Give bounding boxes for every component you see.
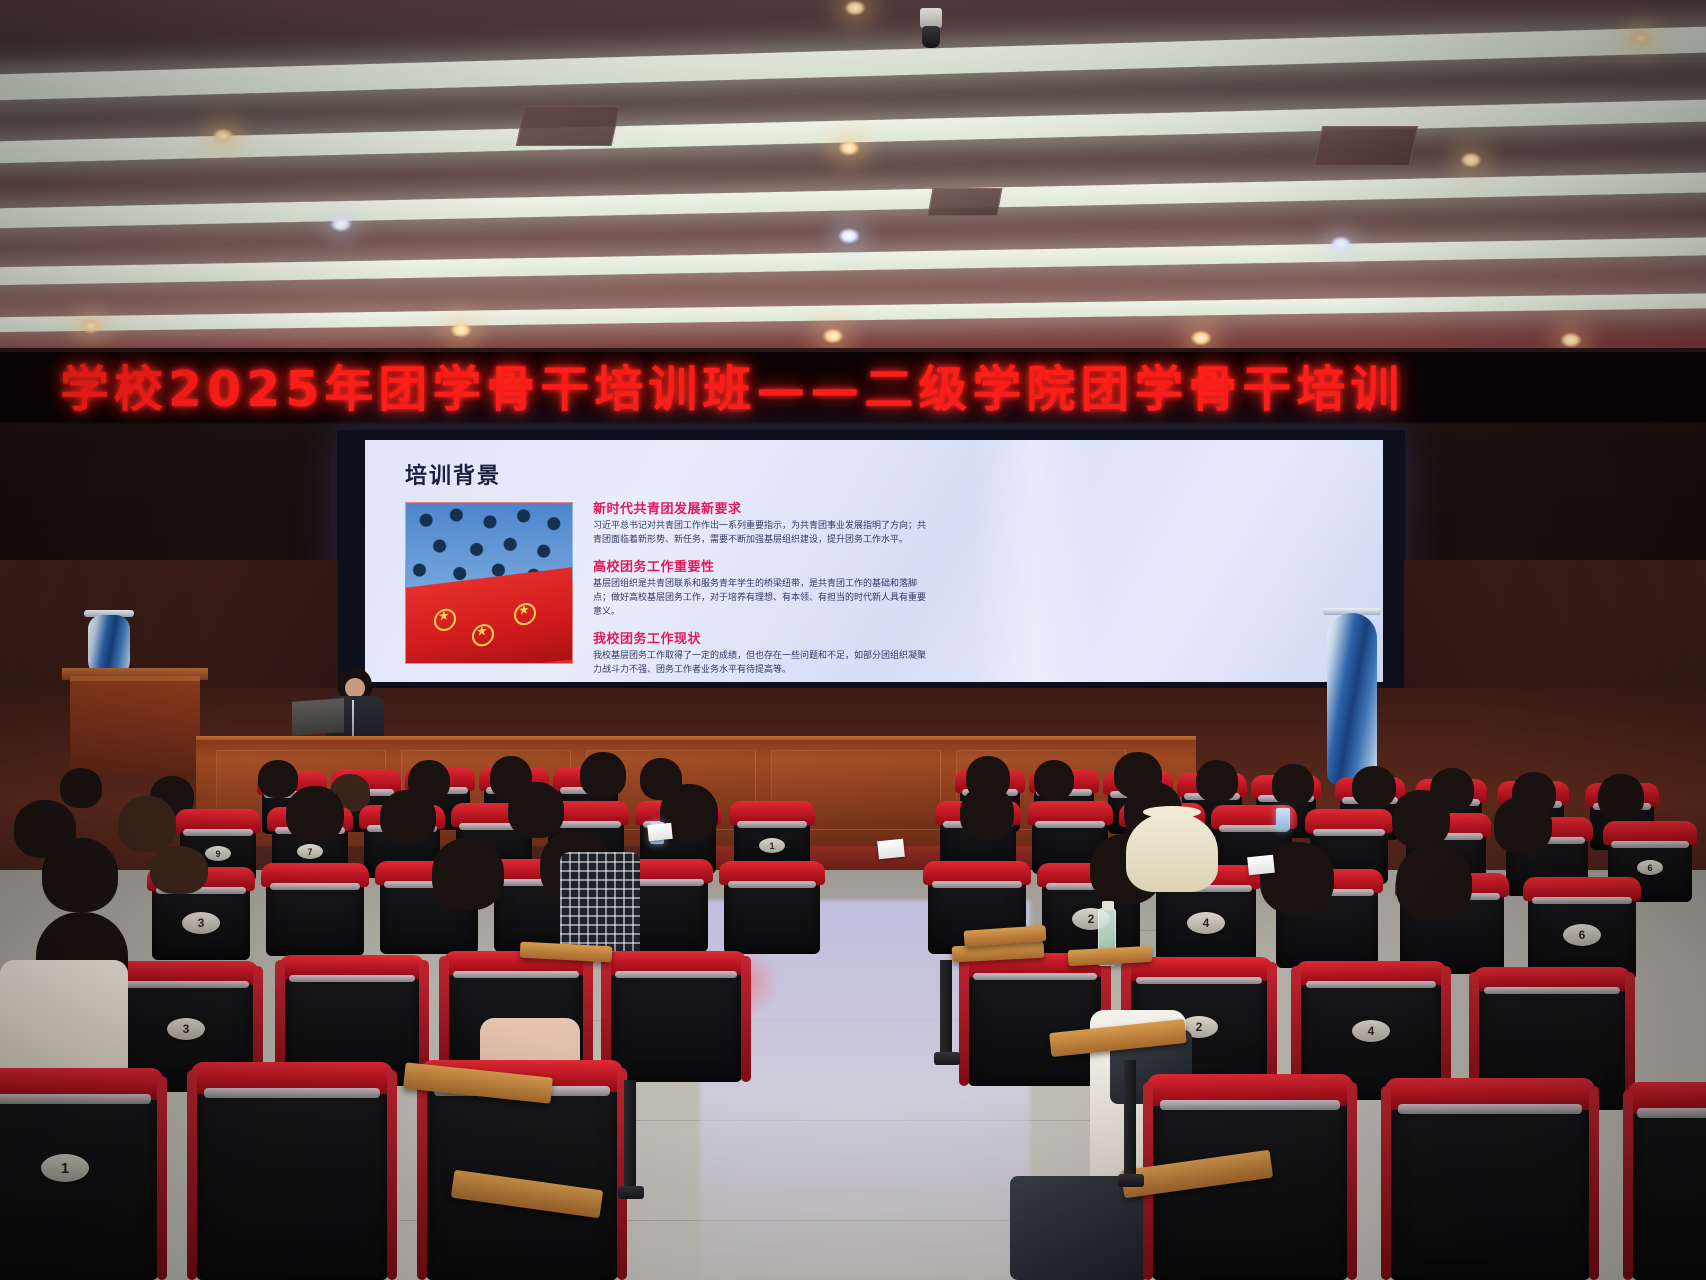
seat-number-plate: 3	[167, 1018, 205, 1040]
porcelain-vase-right	[1327, 613, 1377, 785]
seat[interactable]	[266, 874, 364, 956]
ceiling-vent	[928, 188, 1003, 216]
slide-photo	[405, 502, 573, 664]
slide-heading-2: 高校团务工作重要性	[593, 556, 929, 575]
seat[interactable]	[1390, 1092, 1590, 1280]
paper-handout	[1247, 855, 1275, 876]
ceiling-downlight	[822, 328, 844, 344]
seat-number-plate: 3	[182, 912, 220, 934]
ceiling-downlight	[330, 216, 352, 232]
ceiling-downlight	[212, 128, 234, 144]
projection-screen: 培训背景 新时代共青团发展新要求 习近平总书记对共青团工作作出一系列重要指示，为…	[335, 428, 1407, 690]
seat-number-plate: 4	[1352, 1020, 1390, 1042]
ceiling-downlight	[80, 318, 102, 334]
slide-body-1: 习近平总书记对共青团工作作出一系列重要指示，为共青团事业发展指明了方向；共青团面…	[593, 520, 929, 548]
seat-number-plate: 9	[205, 846, 231, 861]
slide-heading-1: 新时代共青团发展新要求	[593, 498, 929, 517]
seat-number-plate: 6	[1563, 924, 1601, 946]
seat-foot	[618, 1186, 644, 1199]
seat-number-plate: 1	[759, 838, 785, 853]
slide-body: 新时代共青团发展新要求 习近平总书记对共青团工作作出一系列重要指示，为共青团事业…	[593, 498, 929, 682]
seat[interactable]	[196, 1076, 388, 1280]
paper-handout	[647, 823, 673, 841]
slide-body-2: 基层团组织是共青团联系和服务青年学生的桥梁纽带，是共青团工作的基础和落脚点；做好…	[593, 578, 929, 620]
seat[interactable]	[724, 872, 820, 954]
seat-number-plate: 4	[1187, 912, 1225, 934]
slide-body-3: 我校基层团务工作取得了一定的成绩，但也存在一些问题和不足，如部分团组织凝聚力战斗…	[593, 650, 929, 678]
seat[interactable]	[610, 962, 742, 1082]
ceiling	[0, 0, 1706, 352]
ceiling-vent	[1314, 126, 1419, 166]
ceiling-downlight	[1460, 152, 1482, 168]
ceiling-downlight	[838, 228, 860, 244]
ceiling-light-strip	[0, 292, 1706, 334]
slide-title: 培训背景	[405, 458, 501, 490]
presentation-slide: 培训背景 新时代共青团发展新要求 习近平总书记对共青团工作作出一系列重要指示，为…	[365, 440, 1383, 682]
seat-number-plate: 1	[41, 1154, 89, 1182]
auditorium-scene: 学校2025年团学骨干培训班——二级学院团学骨干培训 培训背景 新时代共青团发展…	[0, 0, 1706, 1280]
ceiling-downlight	[1630, 30, 1652, 46]
seat[interactable]: 1	[0, 1082, 158, 1280]
ceiling-light-strip	[0, 170, 1706, 230]
slide-heading-3: 我校团务工作现状	[593, 628, 929, 647]
seat-number-plate: 7	[297, 844, 323, 859]
ceiling-downlight	[838, 140, 860, 156]
podium	[70, 676, 200, 776]
led-banner: 学校2025年团学骨干培训班——二级学院团学骨干培训	[0, 352, 1706, 424]
seat-leg	[1124, 1060, 1136, 1178]
seat[interactable]	[968, 964, 1102, 1086]
seat-foot	[1118, 1174, 1144, 1187]
ceiling-downlight	[1560, 332, 1582, 348]
screen-glare	[975, 440, 1095, 682]
ceiling-vent	[516, 106, 621, 146]
ceiling-downlight	[844, 0, 866, 16]
laptop	[292, 698, 344, 736]
ceiling-downlight	[1190, 330, 1212, 346]
seat-leg	[624, 1080, 636, 1190]
seat-foot	[934, 1052, 960, 1065]
smartphone	[1276, 808, 1290, 830]
led-banner-text: 学校2025年团学骨干培训班——二级学院团学骨干培训	[60, 352, 1404, 421]
seat[interactable]	[1632, 1096, 1706, 1280]
security-camera	[918, 8, 944, 52]
seat-leg	[940, 960, 952, 1056]
seat-number-plate: 6	[1637, 860, 1663, 875]
ceiling-downlight	[1330, 236, 1352, 252]
paper-handout	[877, 839, 905, 860]
ceiling-downlight	[450, 322, 472, 338]
